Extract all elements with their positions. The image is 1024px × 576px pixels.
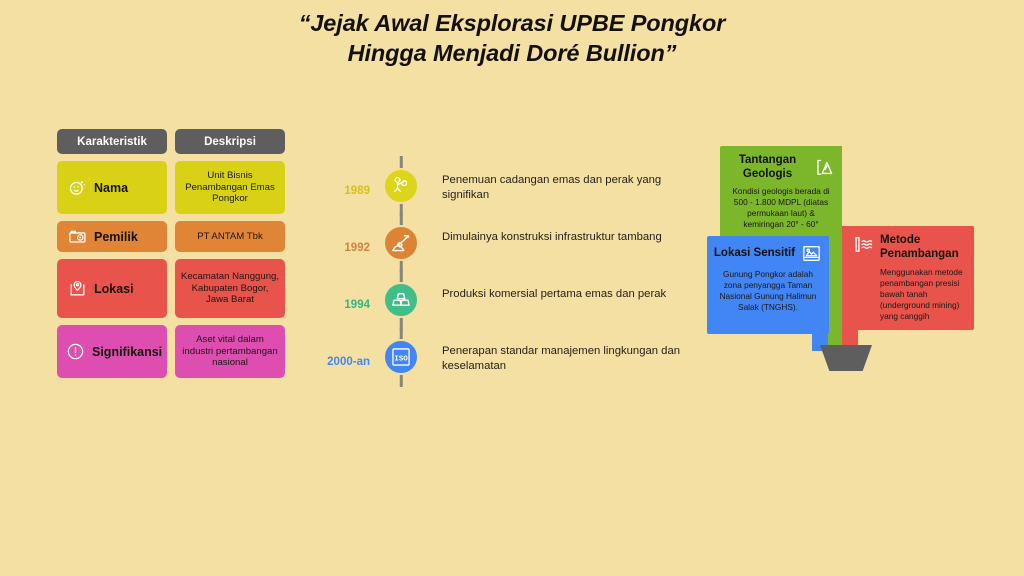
table-cell-characteristic-nama: Nama <box>57 161 167 214</box>
table-cell-label-nama: Nama <box>94 181 128 195</box>
table-row: Pemilik PT ANTAM Tbk <box>57 221 285 252</box>
timeline-node-wrap <box>378 168 424 204</box>
panel-body-metode-penambangan: Menggunakan metode penambangan presisi b… <box>853 267 966 322</box>
table-cell-label-pemilik: Pemilik <box>94 230 138 244</box>
panel-body-lokasi-sensitif: Gunung Pongkor adalah zona penyangga Tam… <box>713 269 823 313</box>
camera-icon <box>68 227 87 246</box>
table-cell-label-signifikansi: Signifikansi <box>92 345 162 359</box>
timeline-item-1994: 1994 Produksi komersial pertama emas dan… <box>322 282 692 339</box>
timeline-year-2000an: 2000-an <box>322 339 378 368</box>
timeline-node-wrap: ISO <box>378 339 424 375</box>
iso-badge-icon: ISO <box>383 339 419 375</box>
dam-water-icon <box>853 234 874 255</box>
timeline-year-1994: 1994 <box>322 282 378 311</box>
panel-header: Lokasi Sensitif <box>713 243 823 264</box>
svg-text:ISO: ISO <box>394 355 408 363</box>
table-header-row: Karakteristik Deskripsi <box>57 129 285 154</box>
map-pin-icon <box>68 279 87 298</box>
panel-body-tantangan-geologis: Kondisi geologis berada di 500 - 1.800 M… <box>726 186 836 230</box>
table-row: Signifikansi Aset vital dalam industri p… <box>57 325 285 378</box>
panel-header: Tantangan Geologis <box>726 154 836 181</box>
face-name-icon <box>68 178 87 197</box>
arrow-diagram: Tantangan Geologis Kondisi geologis bera… <box>706 136 986 376</box>
table-cell-characteristic-pemilik: Pemilik <box>57 221 167 252</box>
timeline-text-1989: Penemuan cadangan emas dan perak yang si… <box>424 168 692 203</box>
timeline-text-1992: Dimulainya konstruksi infrastruktur tamb… <box>424 225 692 245</box>
timeline-item-1989: 1989 Penemuan cadangan emas dan perak ya… <box>322 168 692 225</box>
characteristics-table: Karakteristik Deskripsi Nama Unit Bisnis… <box>57 129 285 385</box>
table-cell-label-lokasi: Lokasi <box>94 282 134 296</box>
shovel-dirt-icon <box>383 225 419 261</box>
timeline-node-wrap <box>378 225 424 261</box>
landscape-photo-icon <box>801 243 822 264</box>
timeline: 1989 Penemuan cadangan emas dan perak ya… <box>322 168 692 396</box>
timeline-item-2000an: 2000-an ISO Penerapan standar manajemen … <box>322 339 692 396</box>
timeline-text-1994: Produksi komersial pertama emas dan pera… <box>424 282 692 302</box>
exclamation-circle-icon <box>66 342 85 361</box>
timeline-year-1989: 1989 <box>322 168 378 197</box>
table-row: Nama Unit Bisnis Penambangan Emas Pongko… <box>57 161 285 214</box>
panel-header: Metode Penambangan <box>853 234 966 261</box>
title-line-1: “Jejak Awal Eksplorasi UPBE Pongkor <box>0 8 1024 38</box>
table-header-characteristic: Karakteristik <box>57 129 167 154</box>
panel-lokasi-sensitif[interactable]: Lokasi Sensitif Gunung Pongkor adalah zo… <box>707 236 829 334</box>
table-cell-description-signifikansi: Aset vital dalam industri pertambangan n… <box>175 325 285 378</box>
table-header-description: Deskripsi <box>175 129 285 154</box>
panel-title-metode-penambangan: Metode Penambangan <box>880 234 966 261</box>
panel-metode-penambangan[interactable]: Metode Penambangan Menggunakan metode pe… <box>846 226 974 330</box>
page-title: “Jejak Awal Eksplorasi UPBE Pongkor Hing… <box>0 8 1024 68</box>
gold-bars-icon <box>383 282 419 318</box>
table-cell-characteristic-signifikansi: Signifikansi <box>57 325 167 378</box>
panel-title-lokasi-sensitif: Lokasi Sensitif <box>714 247 795 261</box>
timeline-text-2000an: Penerapan standar manajemen lingkungan d… <box>424 339 692 374</box>
title-line-2: Hingga Menjadi Doré Bullion” <box>0 38 1024 68</box>
table-cell-description-pemilik: PT ANTAM Tbk <box>175 221 285 252</box>
funnel-shape <box>820 345 872 371</box>
table-cell-description-lokasi: Kecamatan Nanggung, Kabupaten Bogor, Jaw… <box>175 259 285 318</box>
table-row: Lokasi Kecamatan Nanggung, Kabupaten Bog… <box>57 259 285 318</box>
table-cell-description-nama: Unit Bisnis Penambangan Emas Pongkor <box>175 161 285 214</box>
timeline-node-wrap <box>378 282 424 318</box>
panel-title-tantangan-geologis: Tantangan Geologis <box>726 154 809 181</box>
table-cell-characteristic-lokasi: Lokasi <box>57 259 167 318</box>
prospector-icon <box>383 168 419 204</box>
timeline-item-1992: 1992 Dimulainya konstruksi infrastruktur… <box>322 225 692 282</box>
mountain-icon <box>815 157 836 178</box>
timeline-year-1992: 1992 <box>322 225 378 254</box>
